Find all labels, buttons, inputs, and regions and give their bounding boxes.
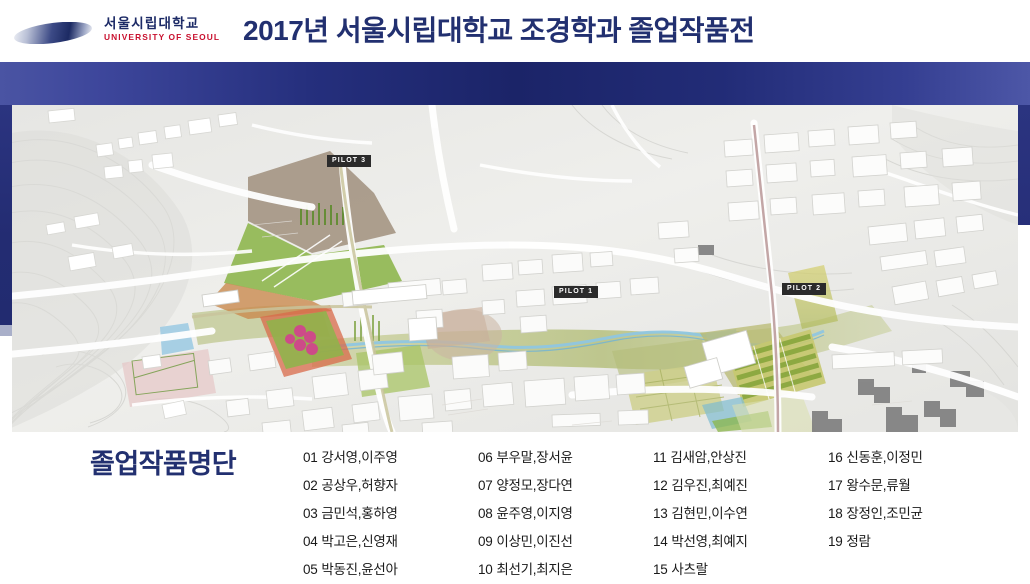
map-label-pilot-3: PILOT 3 [327, 155, 371, 167]
map-label-pilot-2: PILOT 2 [782, 283, 826, 295]
list-item-number: 15 [653, 562, 667, 577]
list-item: 19정람 [828, 528, 1003, 556]
list-item-number: 06 [478, 450, 492, 465]
list-item-people: 박동진,윤선아 [321, 562, 397, 577]
page-title: 2017년 서울시립대학교 조경학과 졸업작품전 [243, 14, 755, 48]
list-item-people: 김새암,안상진 [670, 450, 746, 465]
list-item: 03금민석,홍하영 [303, 500, 478, 528]
graduation-list-column-3: 11김새암,안상진 12김우진,최예진 13김현민,이수연 14박선영,최예지 … [653, 444, 828, 584]
list-item-number: 09 [478, 534, 492, 549]
header-accent-band [0, 62, 1030, 105]
list-item: 06부우말,장서윤 [478, 444, 653, 472]
map-label-pilot-1: PILOT 1 [554, 286, 598, 298]
list-item-people: 강서영,이주영 [321, 450, 397, 465]
university-logo-text: 서울시립대학교 UNIVERSITY OF SEOUL [104, 16, 232, 43]
university-name-english: UNIVERSITY OF SEOUL [104, 32, 232, 43]
list-item: 17왕수문,류월 [828, 472, 1003, 500]
list-item-people: 사츠랄 [671, 562, 707, 577]
list-item-people: 신동훈,이정민 [846, 450, 922, 465]
list-item-people: 부우말,장서윤 [496, 450, 572, 465]
list-item-people: 박고은,신영재 [321, 534, 397, 549]
list-item-number: 05 [303, 562, 317, 577]
list-item-number: 02 [303, 478, 317, 493]
list-item-people: 장정인,조민균 [846, 506, 922, 521]
masterplan-map-graphic [12, 105, 1018, 432]
university-logo-mark [14, 22, 92, 44]
left-accent-band-fade [0, 325, 12, 336]
list-item-people: 정람 [846, 534, 870, 549]
list-item-number: 16 [828, 450, 842, 465]
list-item: 12김우진,최예진 [653, 472, 828, 500]
list-item: 11김새암,안상진 [653, 444, 828, 472]
list-item: 14박선영,최예지 [653, 528, 828, 556]
list-item-people: 김현민,이수연 [671, 506, 747, 521]
list-item-number: 10 [478, 562, 492, 577]
list-item-people: 공상우,허향자 [321, 478, 397, 493]
list-item-people: 윤주영,이지영 [496, 506, 572, 521]
slide-header: 서울시립대학교 UNIVERSITY OF SEOUL 2017년 서울시립대학… [0, 0, 1030, 62]
list-item-number: 08 [478, 506, 492, 521]
list-item: 04박고은,신영재 [303, 528, 478, 556]
list-item-number: 01 [303, 450, 317, 465]
graduation-list-column-4: 16신동훈,이정민 17왕수문,류월 18장정인,조민균 19정람 [828, 444, 1003, 584]
list-item-people: 이상민,이진선 [496, 534, 572, 549]
list-item-number: 14 [653, 534, 667, 549]
list-item-number: 11 [653, 450, 666, 465]
list-item-number: 19 [828, 534, 842, 549]
list-item-number: 04 [303, 534, 317, 549]
list-item-people: 김우진,최예진 [671, 478, 747, 493]
graduation-list-column-2: 06부우말,장서윤 07양정모,장다연 08윤주영,이지영 09이상민,이진선 … [478, 444, 653, 584]
list-item-people: 최선기,최지은 [496, 562, 572, 577]
graduation-list: 01강서영,이주영 02공상우,허향자 03금민석,홍하영 04박고은,신영재 … [303, 444, 1018, 584]
list-item-number: 12 [653, 478, 667, 493]
list-item: 08윤주영,이지영 [478, 500, 653, 528]
list-item-number: 17 [828, 478, 842, 493]
list-item-number: 03 [303, 506, 317, 521]
list-item-number: 13 [653, 506, 667, 521]
list-item-number: 07 [478, 478, 492, 493]
list-item-people: 왕수문,류월 [846, 478, 910, 493]
list-item: 07양정모,장다연 [478, 472, 653, 500]
graduation-list-column-1: 01강서영,이주영 02공상우,허향자 03금민석,홍하영 04박고은,신영재 … [303, 444, 478, 584]
list-item: 02공상우,허향자 [303, 472, 478, 500]
right-accent-band [1018, 105, 1030, 225]
ellipse-swoosh-icon [14, 22, 92, 44]
list-item-number: 18 [828, 506, 842, 521]
left-accent-band [0, 105, 12, 325]
presentation-slide: 서울시립대학교 UNIVERSITY OF SEOUL 2017년 서울시립대학… [0, 0, 1030, 580]
masterplan-map: PILOT 3 PILOT 1 PILOT 2 [12, 105, 1018, 432]
list-item-people: 금민석,홍하영 [321, 506, 397, 521]
list-item-people: 양정모,장다연 [496, 478, 572, 493]
list-item: 01강서영,이주영 [303, 444, 478, 472]
graduation-list-heading: 졸업작품명단 [90, 442, 236, 481]
list-item: 16신동훈,이정민 [828, 444, 1003, 472]
university-name-korean: 서울시립대학교 [104, 16, 232, 31]
list-item: 09이상민,이진선 [478, 528, 653, 556]
list-item: 18장정인,조민균 [828, 500, 1003, 528]
list-item-people: 박선영,최예지 [671, 534, 747, 549]
list-item: 13김현민,이수연 [653, 500, 828, 528]
